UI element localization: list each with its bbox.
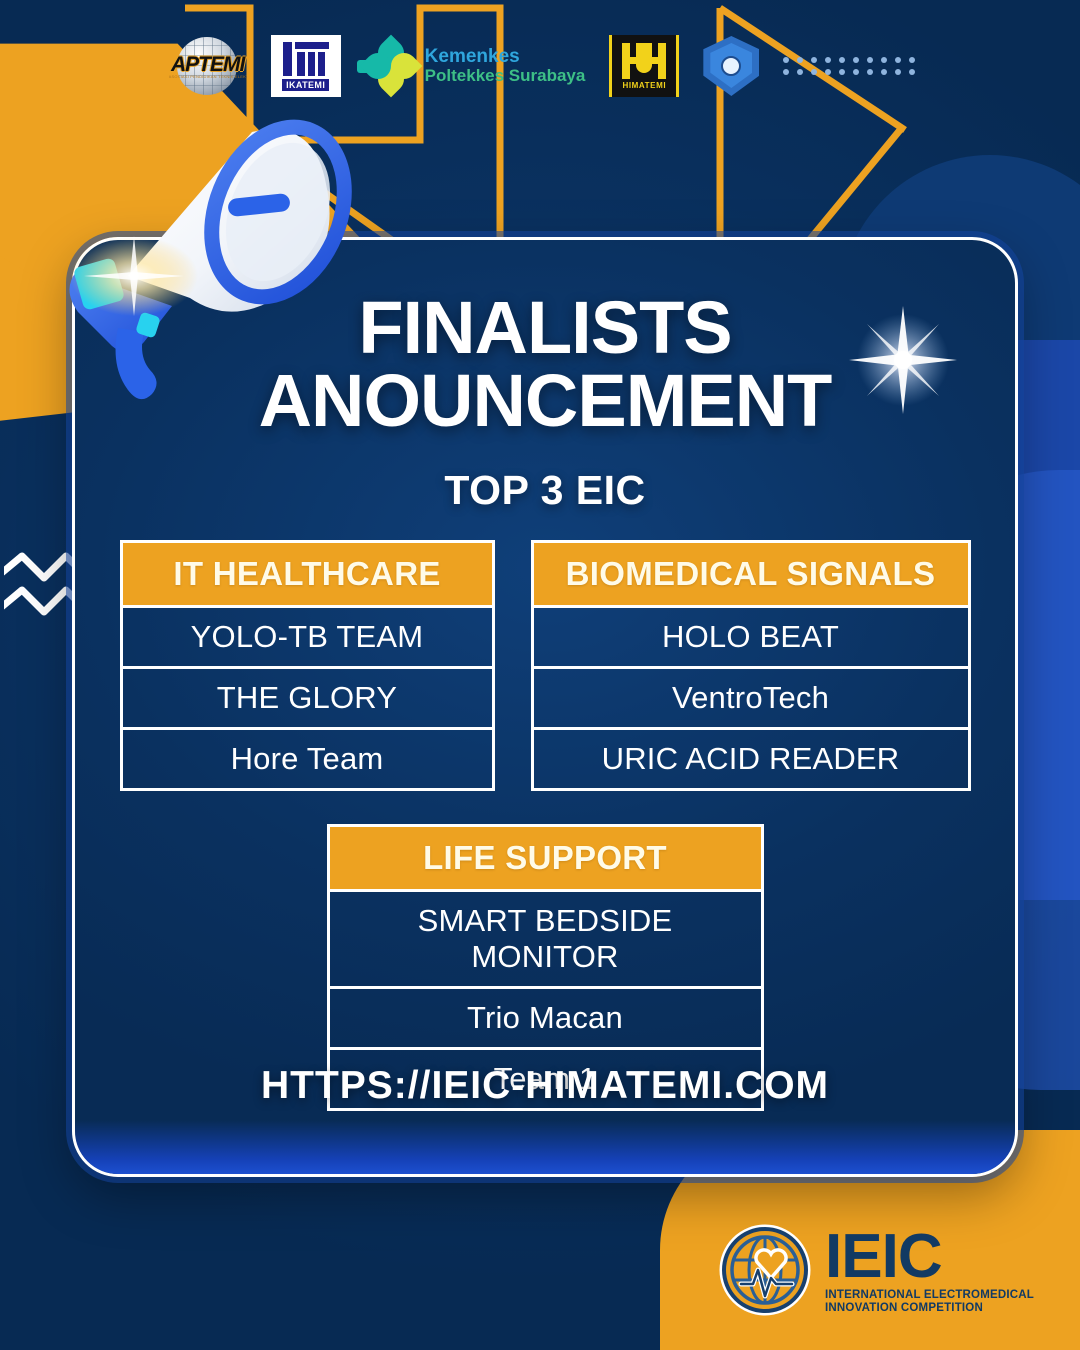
himatemi-logo: HIMATEMI (609, 35, 679, 97)
team-item: YOLO-TB TEAM (123, 608, 492, 669)
ikatemi-logo-text: IKATEMI (282, 79, 329, 91)
partner-logo-bar: APTEMI ASOSIASI PENDIDIKAN TEKNIK ELEKTR… (0, 26, 1080, 106)
aptemi-logo: APTEMI ASOSIASI PENDIDIKAN TEKNIK ELEKTR… (169, 33, 247, 99)
team-item: HOLO BEAT (534, 608, 968, 669)
category-row-top: IT HEALTHCARE YOLO-TB TEAM THE GLORY Hor… (75, 540, 1015, 791)
clover-icon (365, 40, 417, 92)
category-list: IT HEALTHCARE YOLO-TB TEAM THE GLORY Hor… (75, 540, 1015, 1111)
category-card-it-healthcare: IT HEALTHCARE YOLO-TB TEAM THE GLORY Hor… (120, 540, 495, 791)
ieic-tagline-line1: INTERNATIONAL ELECTROMEDICAL (825, 1290, 1034, 1302)
page-subtitle: TOP 3 EIC (75, 467, 1015, 514)
campus-shield-logo (703, 36, 759, 96)
ieic-wordmark: IEIC (825, 1226, 1034, 1288)
ikatemi-logo: IKATEMI (271, 35, 341, 97)
category-header-it-healthcare: IT HEALTHCARE (123, 543, 492, 608)
team-item: SMART BEDSIDE MONITOR (330, 892, 761, 989)
shield-core-icon (721, 56, 741, 76)
kemenkes-logo-line2: Poltekkes Surabaya (425, 67, 586, 85)
panel-bottom-glow (75, 1120, 1015, 1174)
team-item: THE GLORY (123, 669, 492, 730)
ieic-tagline-line2: INNOVATION COMPETITION (825, 1303, 1034, 1315)
megaphone-icon (56, 100, 386, 400)
himatemi-mark-icon (620, 43, 668, 79)
himatemi-logo-text: HIMATEMI (622, 81, 666, 90)
team-item: URIC ACID READER (534, 730, 968, 788)
category-header-biomedical-signals: BIOMEDICAL SIGNALS (534, 543, 968, 608)
website-url[interactable]: HTTPS://IEIC-HIMATEMI.COM (75, 1064, 1015, 1108)
category-card-biomedical-signals: BIOMEDICAL SIGNALS HOLO BEAT VentroTech … (531, 540, 971, 791)
kemenkes-logo: Kemenkes Poltekkes Surabaya (365, 33, 586, 99)
team-item: VentroTech (534, 669, 968, 730)
aptemi-logo-subtext: ASOSIASI PENDIDIKAN TEKNIK ELEKTROMEDIK … (169, 74, 247, 79)
kemenkes-logo-line1: Kemenkes (425, 47, 586, 68)
globe-heart-pulse-icon (719, 1224, 811, 1316)
team-item: Trio Macan (330, 989, 761, 1050)
category-header-life-support: LIFE SUPPORT (330, 827, 761, 892)
ikatemi-mark-icon (283, 42, 329, 76)
ieic-footer-logo: IEIC INTERNATIONAL ELECTROMEDICAL INNOVA… (719, 1224, 1034, 1316)
dot-grid-decoration (783, 57, 911, 75)
team-item: Hore Team (123, 730, 492, 788)
